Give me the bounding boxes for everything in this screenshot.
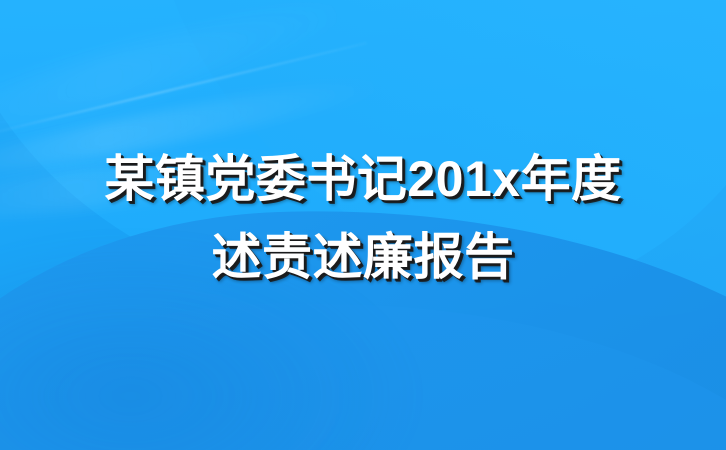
banner-title-line-1: 某镇党委书记201x年度 — [0, 148, 726, 210]
banner-title-line-2: 述责述廉报告 — [0, 226, 726, 288]
banner-title: 某镇党委书记201x年度 述责述廉报告 — [0, 148, 726, 288]
title-banner: 某镇党委书记201x年度 述责述廉报告 — [0, 0, 726, 450]
